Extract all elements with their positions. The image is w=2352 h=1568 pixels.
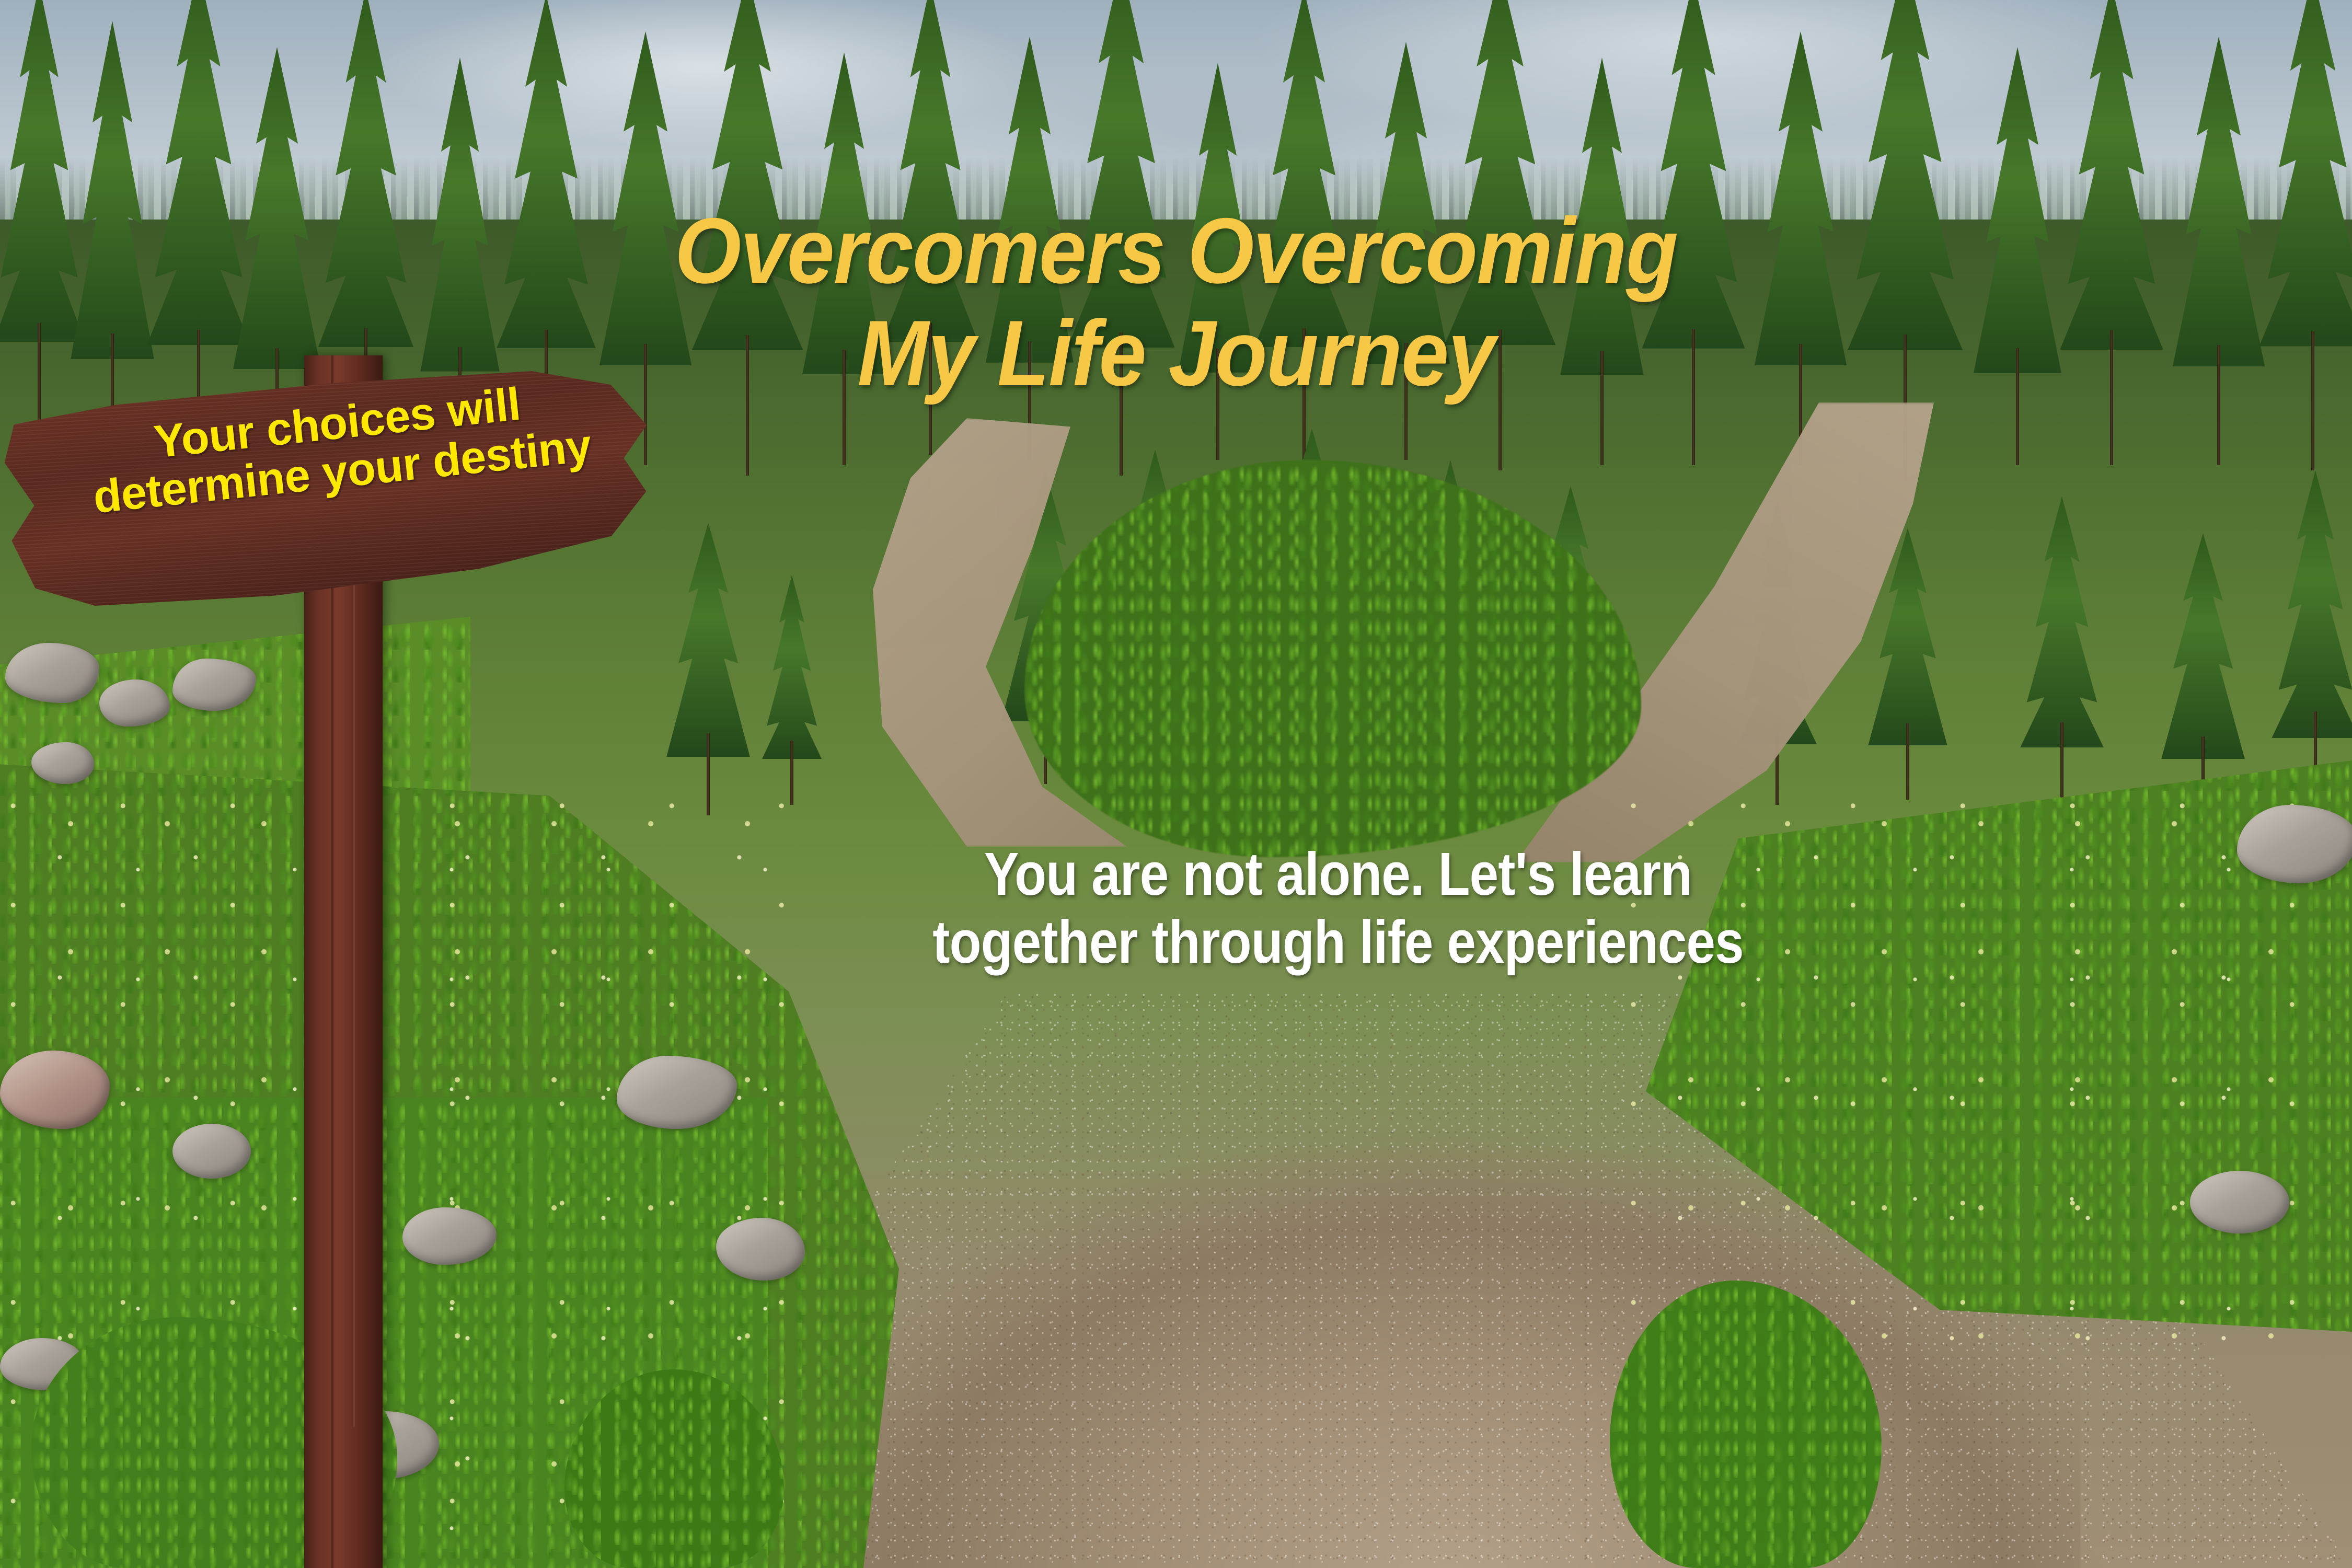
rock — [2190, 1171, 2289, 1233]
trail-sign[interactable]: Your choices will determine your destiny — [0, 355, 732, 1568]
poster-canvas: Your choices will determine your destiny… — [0, 0, 2352, 1568]
rock — [2237, 805, 2352, 883]
